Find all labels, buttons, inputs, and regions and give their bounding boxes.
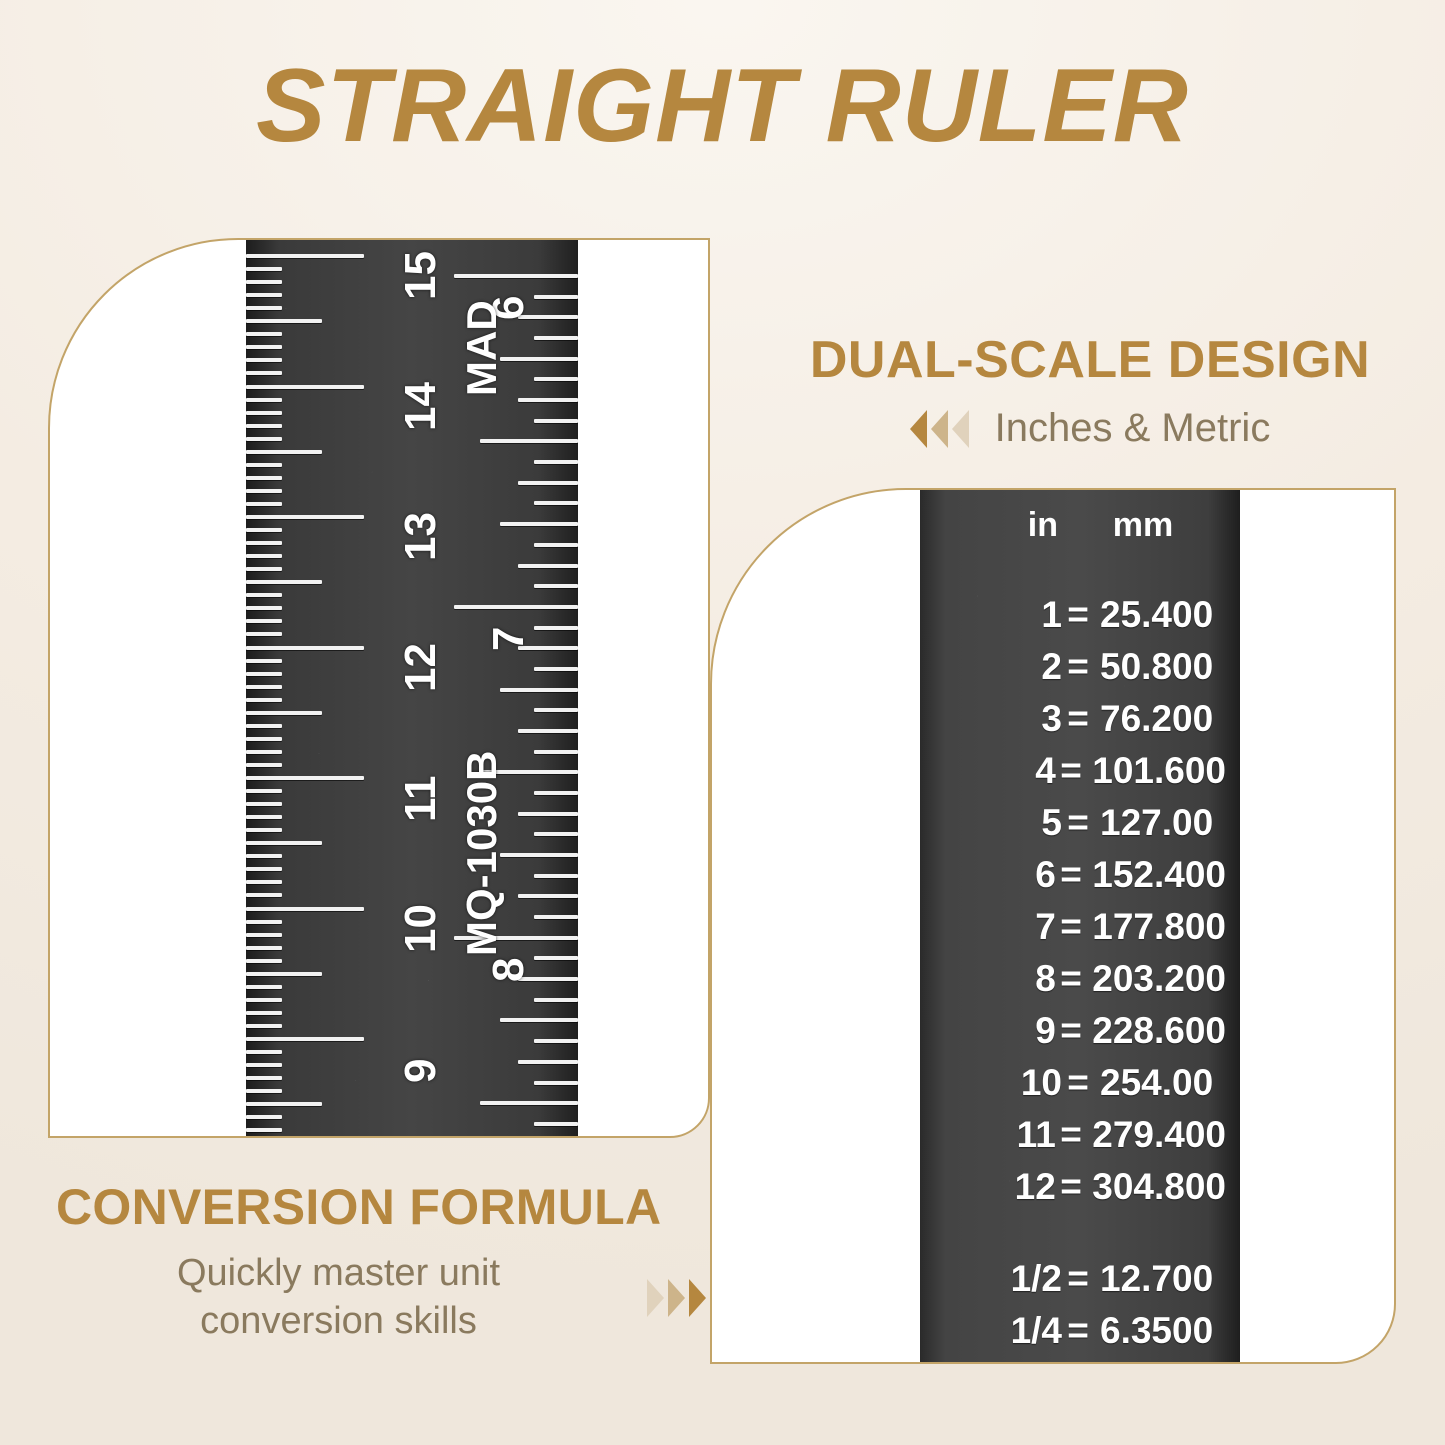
ruler-photo-panel: 1514131211109678MQ-1030BMAD [48, 238, 710, 1138]
chevrons-right-icon [647, 1279, 706, 1317]
ruler-tick-inch [534, 626, 578, 630]
ruler-tick-mm [246, 907, 364, 911]
dual-scale-feature: DUAL-SCALE DESIGN Inches & Metric [760, 330, 1420, 451]
conversion-chart-panel: in mm 1=25.4002=50.8003=76.2004=101.6005… [710, 488, 1396, 1364]
ruler-cm-label: 12 [396, 643, 446, 692]
ruler-tick-mm [246, 398, 282, 402]
dual-scale-heading: DUAL-SCALE DESIGN [760, 330, 1420, 390]
subtitle-line-1: Quickly master unit [177, 1252, 500, 1294]
cell-inches: 10 [934, 1062, 1062, 1104]
ruler-inch-label: 7 [484, 626, 534, 650]
ruler-tick-mm [246, 345, 282, 349]
ruler-tick-mm [246, 841, 322, 845]
ruler-tick-mm [246, 554, 282, 558]
ruler-tick-mm [246, 893, 282, 897]
ruler-tick-inch [518, 729, 578, 733]
ruler-inch-label: 8 [484, 957, 534, 981]
cell-millimeters: 25.400 [1094, 594, 1226, 636]
cell-inches: 12 [934, 1166, 1056, 1208]
ruler-tick-inch [500, 357, 578, 361]
ruler-tick-inch [518, 812, 578, 816]
ruler-tick-inch [454, 605, 578, 609]
ruler-tick-inch [500, 688, 578, 692]
cell-inches: 7 [934, 906, 1056, 948]
conversion-chart-clip: in mm 1=25.4002=50.8003=76.2004=101.6005… [712, 490, 1394, 1362]
ruler-tick-mm [246, 371, 282, 375]
cell-millimeters: 6.3500 [1094, 1310, 1226, 1352]
conversion-formula-feature: CONVERSION FORMULA Quickly master unit c… [56, 1178, 706, 1345]
cell-inches: 2 [934, 646, 1062, 688]
ruler-tick-inch [518, 894, 578, 898]
ruler-tick-mm [246, 711, 322, 715]
cell-equals: = [1062, 594, 1094, 636]
ruler-tick-inch [518, 481, 578, 485]
ruler-tick-inch [500, 853, 578, 857]
cell-equals: = [1062, 1062, 1094, 1104]
table-body: 1=25.4002=50.8003=76.2004=101.6005=127.0… [920, 589, 1240, 1362]
table-row: 1=25.400 [920, 589, 1240, 641]
ruler-tick-mm [246, 306, 282, 310]
cell-millimeters: 12.700 [1094, 1258, 1226, 1300]
ruler-tick-mm [246, 593, 282, 597]
ruler-tick-mm [246, 646, 364, 650]
ruler-tick-mm [246, 815, 282, 819]
ruler-tick-inch [534, 1039, 578, 1043]
ruler-cm-label: 10 [396, 904, 446, 953]
cell-millimeters: 50.800 [1094, 646, 1226, 688]
ruler-tick-mm [246, 1037, 364, 1041]
ruler-tick-mm [246, 502, 282, 506]
ruler-tick-inch [534, 667, 578, 671]
table-row: 9=228.600 [920, 1005, 1240, 1057]
ruler-tick-mm [246, 267, 282, 271]
cell-equals: = [1056, 906, 1086, 948]
ruler-tick-mm [246, 659, 282, 663]
ruler-tick-mm [246, 789, 282, 793]
ruler-tick-inch [518, 1060, 578, 1064]
ruler-tick-mm [246, 515, 364, 519]
cell-millimeters: 127.00 [1094, 802, 1226, 844]
ruler-tick-inch [534, 750, 578, 754]
table-row: 1/4=6.3500 [920, 1305, 1240, 1357]
ruler-tick-mm [246, 424, 282, 428]
cell-inches: 3 [934, 698, 1062, 740]
ruler-tick-inch [454, 274, 578, 278]
ruler-tick-inch [500, 522, 578, 526]
ruler-tick-mm [246, 750, 282, 754]
ruler-tick-mm [246, 1089, 282, 1093]
table-row: 6=152.400 [920, 849, 1240, 901]
ruler-origin-label: MAD [458, 300, 506, 396]
ruler-tick-inch [500, 1018, 578, 1022]
table-row: 12=304.800 [920, 1161, 1240, 1213]
table-row: 11=279.400 [920, 1109, 1240, 1161]
ruler-tick-inch [518, 564, 578, 568]
ruler-model-label: MQ-1030B [458, 751, 506, 956]
ruler-tick-inch [534, 501, 578, 505]
ruler-tick-mm [246, 567, 282, 571]
ruler-tick-inch [534, 377, 578, 381]
ruler-cm-label: 15 [396, 251, 446, 300]
cell-equals: = [1056, 1166, 1086, 1208]
ruler-tick-mm [246, 606, 282, 610]
ruler-cm-label: 11 [396, 775, 446, 822]
ruler-tick-inch [534, 708, 578, 712]
ruler-tick-inch [534, 915, 578, 919]
cell-inches: 5 [934, 802, 1062, 844]
ruler-tick-inch [534, 584, 578, 588]
ruler-tick-mm [246, 959, 282, 963]
ruler-tick-mm [246, 920, 282, 924]
cell-inches: 8 [934, 958, 1056, 1000]
ruler-tick-mm [246, 828, 282, 832]
cell-millimeters: 254.00 [1094, 1062, 1226, 1104]
dual-scale-subtitle: Inches & Metric [995, 406, 1271, 451]
column-header-mm: mm [1058, 506, 1222, 545]
ruler-tick-mm [246, 476, 282, 480]
ruler-tick-inch [534, 832, 578, 836]
table-row: 2=50.800 [920, 641, 1240, 693]
ruler-tick-mm [246, 450, 322, 454]
ruler-tick-mm [246, 332, 282, 336]
cell-inches: 6 [934, 854, 1056, 896]
ruler-tick-mm [246, 489, 282, 493]
ruler-tick-inch [480, 1101, 578, 1105]
ruler-tick-mm [246, 946, 282, 950]
cell-equals: = [1062, 1258, 1094, 1300]
ruler-tick-mm [246, 1050, 282, 1054]
ruler-tick-inch [518, 398, 578, 402]
table-row: 4=101.600 [920, 745, 1240, 797]
subtitle-line-2: conversion skills [200, 1300, 477, 1342]
ruler-tick-inch [534, 295, 578, 299]
steel-ruler: 1514131211109678MQ-1030BMAD [246, 240, 578, 1136]
cell-millimeters: 279.400 [1086, 1114, 1226, 1156]
cell-equals: = [1062, 698, 1094, 740]
ruler-tick-mm [246, 1102, 322, 1106]
chevron-left-icon [931, 410, 948, 448]
table-row: 10=254.00 [920, 1057, 1240, 1109]
cell-millimeters: 203.200 [1086, 958, 1226, 1000]
conversion-formula-subtitle: Quickly master unit conversion skills [56, 1250, 621, 1345]
ruler-tick-mm [246, 672, 282, 676]
ruler-tick-mm [246, 1024, 282, 1028]
ruler-tick-mm [246, 1076, 282, 1080]
chevron-right-icon [647, 1279, 664, 1317]
cell-millimeters: 228.600 [1086, 1010, 1226, 1052]
ruler-tick-mm [246, 385, 364, 389]
cell-equals: = [1056, 958, 1086, 1000]
ruler-cm-label: 9 [396, 1059, 446, 1083]
table-row: 5=127.00 [920, 797, 1240, 849]
ruler-tick-mm [246, 776, 364, 780]
ruler-tick-mm [246, 880, 282, 884]
ruler-tick-mm [246, 319, 322, 323]
ruler-tick-mm [246, 463, 282, 467]
cell-inches: 9 [934, 1010, 1056, 1052]
ruler-tick-mm [246, 854, 282, 858]
ruler-tick-mm [246, 1011, 282, 1015]
ruler-photo-clip: 1514131211109678MQ-1030BMAD [50, 240, 708, 1136]
ruler-tick-mm [246, 1115, 282, 1119]
ruler-tick-mm [246, 358, 282, 362]
cell-equals: = [1062, 646, 1094, 688]
chevron-right-icon [689, 1279, 706, 1317]
ruler-tick-mm [246, 254, 364, 258]
ruler-cm-label: 13 [396, 512, 446, 561]
cell-inches: 4 [934, 750, 1056, 792]
table-row: 3/4=19.0500 [920, 1357, 1240, 1362]
table-row: 1/2=12.700 [920, 1253, 1240, 1305]
cell-inches: 11 [934, 1114, 1056, 1156]
cell-equals: = [1056, 1114, 1086, 1156]
ruler-tick-mm [246, 293, 282, 297]
table-row: 7=177.800 [920, 901, 1240, 953]
cell-equals: = [1062, 802, 1094, 844]
ruler-tick-inch [534, 419, 578, 423]
cell-millimeters: 304.800 [1086, 1166, 1226, 1208]
ruler-tick-mm [246, 411, 282, 415]
ruler-tick-mm [246, 998, 282, 1002]
ruler-tick-inch [534, 874, 578, 878]
ruler-tick-mm [246, 619, 282, 623]
cell-equals: = [1056, 1010, 1086, 1052]
ruler-tick-inch [480, 439, 578, 443]
cell-inches: 1 [934, 594, 1062, 636]
ruler-tick-inch [534, 998, 578, 1002]
chevron-left-icon [952, 410, 969, 448]
ruler-tick-mm [246, 985, 282, 989]
ruler-tick-mm [246, 698, 282, 702]
ruler-tick-inch [534, 543, 578, 547]
ruler-tick-mm [246, 1063, 282, 1067]
ruler-tick-inch [534, 791, 578, 795]
chevron-right-icon [668, 1279, 685, 1317]
ruler-tick-mm [246, 632, 282, 636]
page-title: STRAIGHT RULER [0, 52, 1445, 161]
ruler-tick-mm [246, 763, 282, 767]
cell-millimeters: 152.400 [1086, 854, 1226, 896]
table-row: 3=76.200 [920, 693, 1240, 745]
ruler-tick-mm [246, 685, 282, 689]
table-spacer [920, 1213, 1240, 1253]
cell-equals: = [1056, 750, 1086, 792]
ruler-cm-label: 14 [396, 382, 446, 431]
ruler-tick-inch [534, 1122, 578, 1126]
cell-millimeters: 101.600 [1086, 750, 1226, 792]
ruler-tick-mm [246, 933, 282, 937]
ruler-tick-inch [534, 336, 578, 340]
cell-inches: 1/4 [934, 1310, 1062, 1352]
ruler-tick-mm [246, 437, 282, 441]
chevron-left-icon [910, 410, 927, 448]
dual-scale-subrow: Inches & Metric [760, 406, 1420, 451]
ruler-tick-mm [246, 737, 282, 741]
ruler-tick-mm [246, 280, 282, 284]
conversion-formula-heading: CONVERSION FORMULA [56, 1178, 706, 1236]
ruler-tick-inch [534, 1081, 578, 1085]
cell-inches: 1/2 [934, 1258, 1062, 1300]
chevrons-left-icon [910, 410, 969, 448]
cell-equals: = [1062, 1310, 1094, 1352]
ruler-tick-mm [246, 802, 282, 806]
ruler-tick-mm [246, 528, 282, 532]
ruler-tick-mm [246, 580, 322, 584]
ruler-tick-mm [246, 541, 282, 545]
conversion-table: in mm 1=25.4002=50.8003=76.2004=101.6005… [920, 490, 1240, 1362]
table-header-row: in mm [920, 506, 1240, 545]
column-header-in: in [938, 506, 1058, 545]
ruler-tick-mm [246, 1128, 282, 1132]
ruler-tick-inch [534, 956, 578, 960]
conversion-table-bar: in mm 1=25.4002=50.8003=76.2004=101.6005… [920, 490, 1240, 1362]
ruler-tick-mm [246, 867, 282, 871]
ruler-tick-inch [534, 460, 578, 464]
infographic-page: STRAIGHT RULER 1514131211109678MQ-1030BM… [0, 0, 1445, 1445]
table-row: 8=203.200 [920, 953, 1240, 1005]
cell-millimeters: 76.200 [1094, 698, 1226, 740]
cell-equals: = [1056, 854, 1086, 896]
cell-millimeters: 177.800 [1086, 906, 1226, 948]
conversion-formula-subrow: Quickly master unit conversion skills [56, 1250, 706, 1345]
ruler-tick-mm [246, 724, 282, 728]
ruler-tick-mm [246, 972, 322, 976]
